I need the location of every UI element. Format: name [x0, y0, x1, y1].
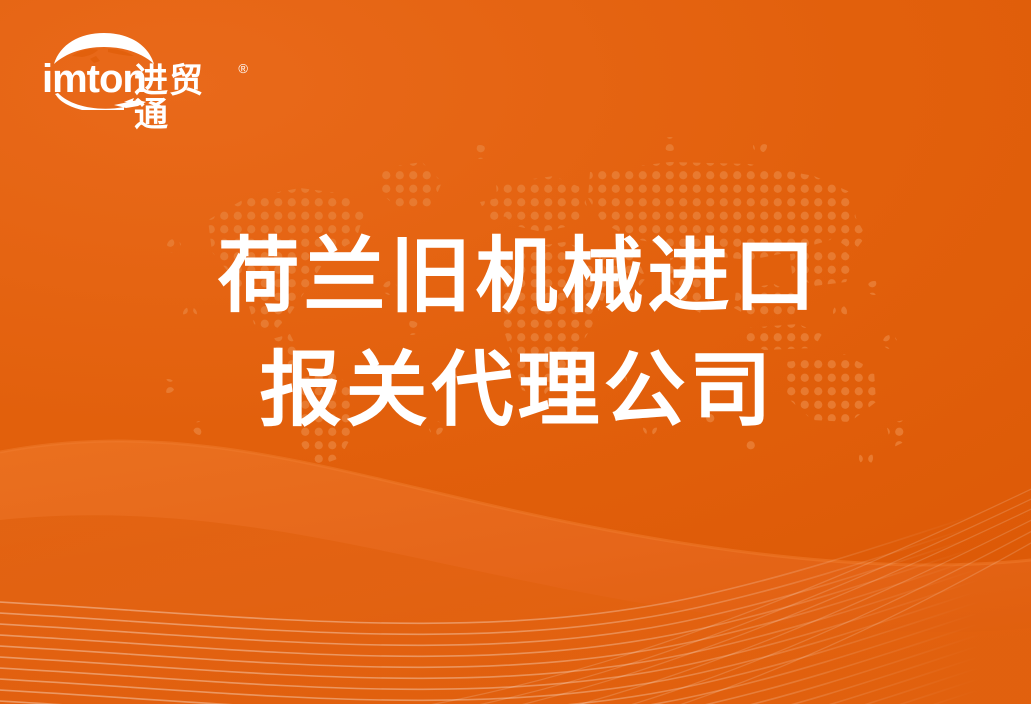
headline-line-2: 报关代理公司 [0, 350, 1031, 432]
logo-chinese-text: 进贸通 [134, 64, 236, 132]
brand-logo[interactable]: imton 进贸通 ® [38, 26, 248, 110]
page-title: 荷兰旧机械进口 报关代理公司 [0, 236, 1031, 432]
promo-banner: imton 进贸通 ® 荷兰旧机械进口 报关代理公司 [0, 0, 1031, 704]
trademark-icon: ® [238, 62, 248, 75]
headline-line-1: 荷兰旧机械进口 [0, 236, 1031, 318]
